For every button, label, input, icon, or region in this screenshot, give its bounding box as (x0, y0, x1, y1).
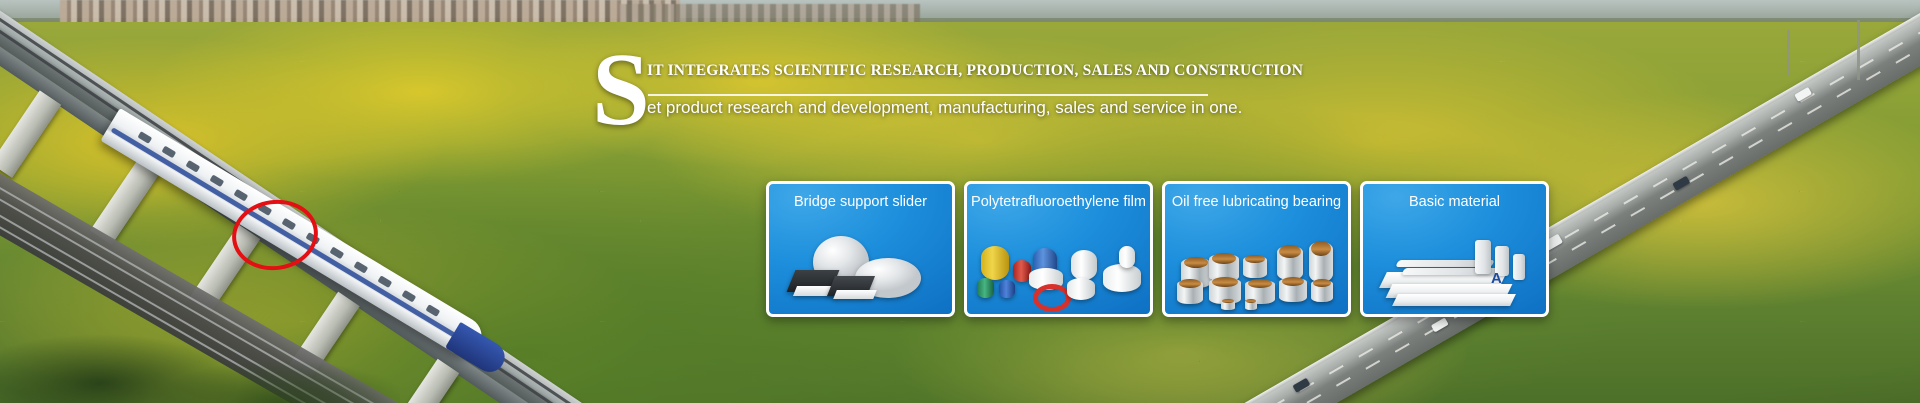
viaduct-pier (0, 90, 61, 177)
ptfe-moulded-part (1119, 246, 1135, 268)
bearing-bush (1311, 280, 1333, 302)
product-card-title: Bridge support slider (769, 194, 952, 210)
bearing-bush-small (1221, 300, 1235, 310)
drop-cap-letter: S (592, 38, 650, 142)
foreground-vegetation (0, 293, 400, 403)
bearing-sleeve-long (1309, 242, 1333, 282)
headline-secondary: et product research and development, man… (647, 98, 1242, 118)
bearing-bush (1177, 280, 1203, 304)
bearing-sleeve (1277, 246, 1303, 280)
product-image-basic-material: A (1363, 224, 1546, 310)
material-cylinder (1513, 254, 1525, 280)
product-image-oil-free-bearing (1165, 224, 1348, 310)
headline-primary: IT INTEGRATES SCIENTIFIC RESEARCH, PRODU… (647, 62, 1303, 80)
material-sheet (1392, 294, 1516, 306)
product-card-oil-free-bearing[interactable]: Oil free lubricating bearing (1162, 181, 1351, 317)
product-card-bridge-support-slider[interactable]: Bridge support slider (766, 181, 955, 317)
headline-block: S IT INTEGRATES SCIENTIFIC RESEARCH, PRO… (592, 44, 1212, 134)
material-cylinder (1475, 240, 1491, 274)
product-image-ptfe-film (967, 224, 1150, 310)
headline-divider (648, 94, 1208, 96)
utility-pole (1787, 30, 1790, 76)
product-card-title: Polytetrafluoroethylene film (967, 194, 1150, 210)
bearing-bush (1279, 278, 1307, 302)
product-card-title: Basic material (1363, 194, 1546, 210)
product-card-basic-material[interactable]: Basic material A (1360, 181, 1549, 317)
tape-ring-red (1033, 284, 1071, 312)
tape-roll-green (977, 278, 994, 298)
ptfe-moulded-part (1103, 264, 1141, 292)
tape-roll-yellow (981, 246, 1009, 280)
product-card-list: Bridge support slider Polytetrafluoroeth… (766, 181, 1549, 317)
bearing-bush-small (1245, 300, 1257, 310)
tape-roll-white (1071, 250, 1097, 280)
slider-plate-light (833, 290, 877, 299)
tape-roll-white (1067, 278, 1095, 300)
product-card-title: Oil free lubricating bearing (1165, 194, 1348, 210)
bearing-bush (1243, 256, 1267, 278)
tape-roll-blue (999, 280, 1015, 298)
product-card-ptfe-film[interactable]: Polytetrafluoroethylene film (964, 181, 1153, 317)
product-image-bridge-support-slider (769, 224, 952, 310)
hero-banner: S IT INTEGRATES SCIENTIFIC RESEARCH, PRO… (0, 0, 1920, 403)
material-label-letter: A (1491, 270, 1502, 287)
utility-pole (1857, 20, 1860, 80)
